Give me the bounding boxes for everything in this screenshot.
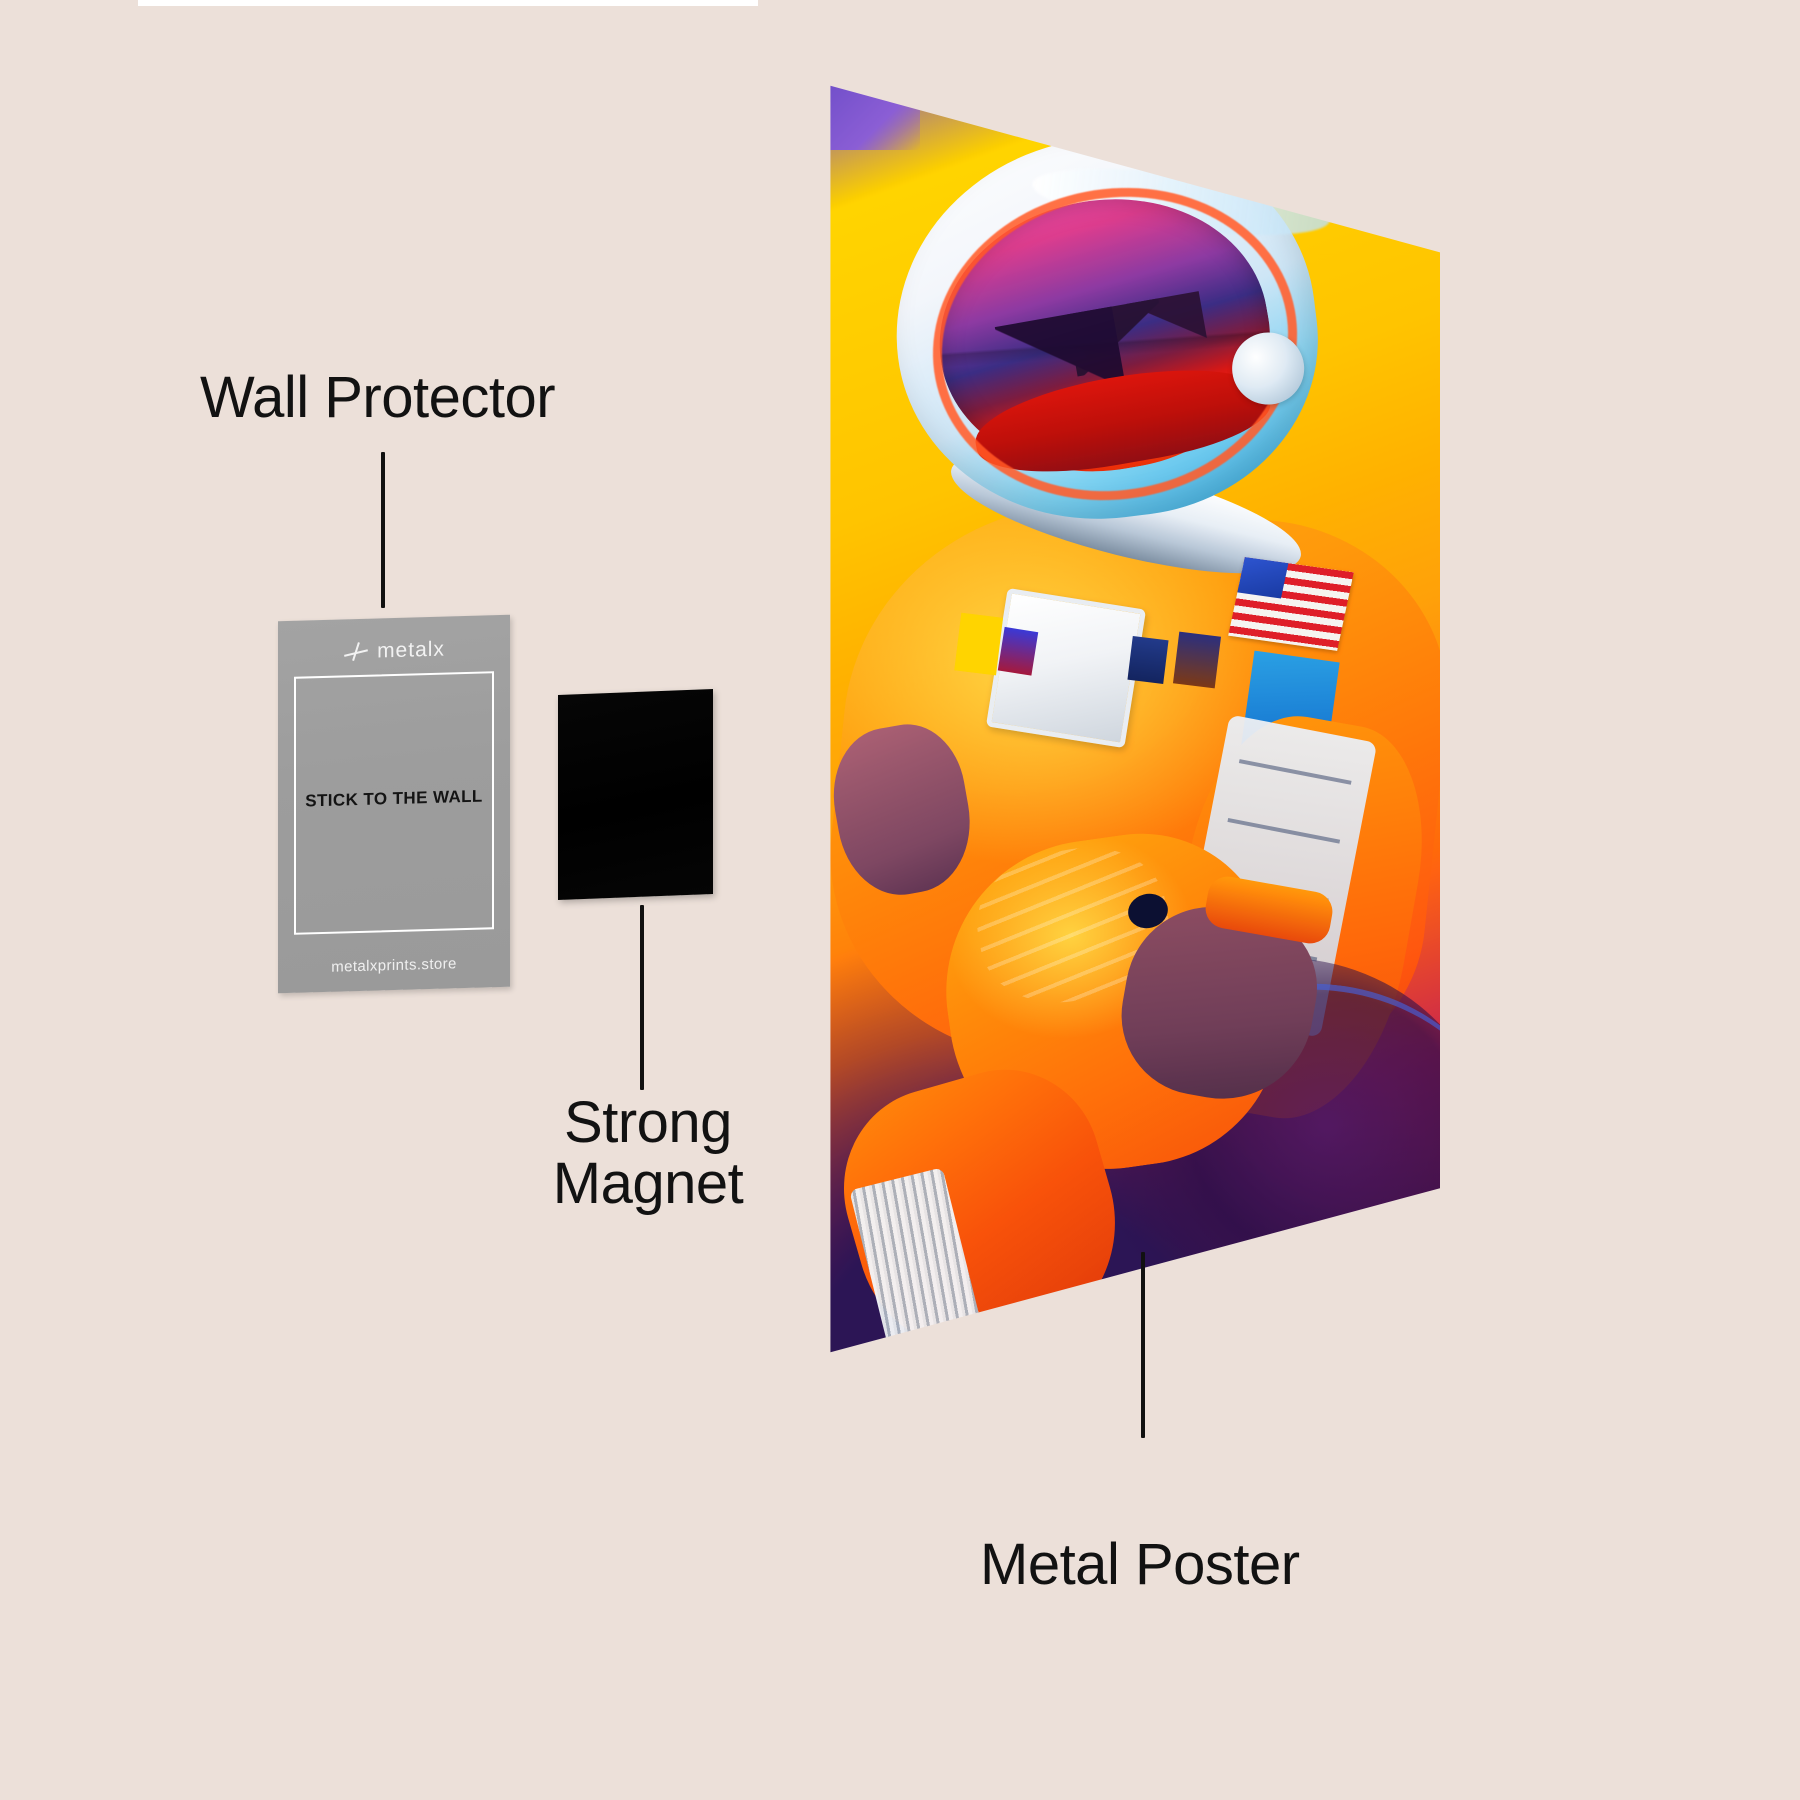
shoulder-patch-small-2: [1173, 632, 1221, 689]
callout-label-strong-magnet: Strong Magnet: [548, 1093, 748, 1215]
chest-indicator-block: [998, 627, 1038, 676]
metal-poster: [828, 78, 1440, 1360]
wall-protector-card: metalx STICK TO THE WALL metalxprints.st…: [278, 615, 510, 993]
leader-line-metal-poster: [1141, 1252, 1145, 1438]
strap-line: [1227, 818, 1340, 844]
chest-control-panel: [986, 588, 1146, 748]
infographic-canvas: Wall Protector metalx STICK TO THE WALL …: [0, 0, 1800, 1800]
card-store-url: metalxprints.store: [278, 954, 510, 977]
callout-label-wall-protector: Wall Protector: [200, 368, 555, 429]
wall-protector-card-face: metalx STICK TO THE WALL metalxprints.st…: [278, 615, 510, 993]
leader-line-wall-protector: [381, 452, 385, 608]
brand-logo: metalx: [278, 635, 510, 667]
chest-yellow-label: [954, 613, 1003, 676]
poster-artwork-background: [828, 78, 1440, 1360]
metalx-cross-icon: [343, 639, 369, 666]
astronaut-helmet: [874, 114, 1337, 542]
poster-corner-purple-accent: [828, 78, 920, 150]
callout-label-metal-poster: Metal Poster: [980, 1535, 1300, 1596]
flag-canton: [1237, 557, 1288, 598]
shoulder-patch-small: [1127, 636, 1168, 684]
strong-magnet-square: [558, 689, 713, 900]
leader-line-strong-magnet: [640, 905, 644, 1090]
strap-line: [1239, 759, 1352, 785]
brand-name: metalx: [377, 638, 445, 664]
top-white-notch: [138, 0, 758, 6]
us-flag-patch: [1228, 557, 1354, 651]
